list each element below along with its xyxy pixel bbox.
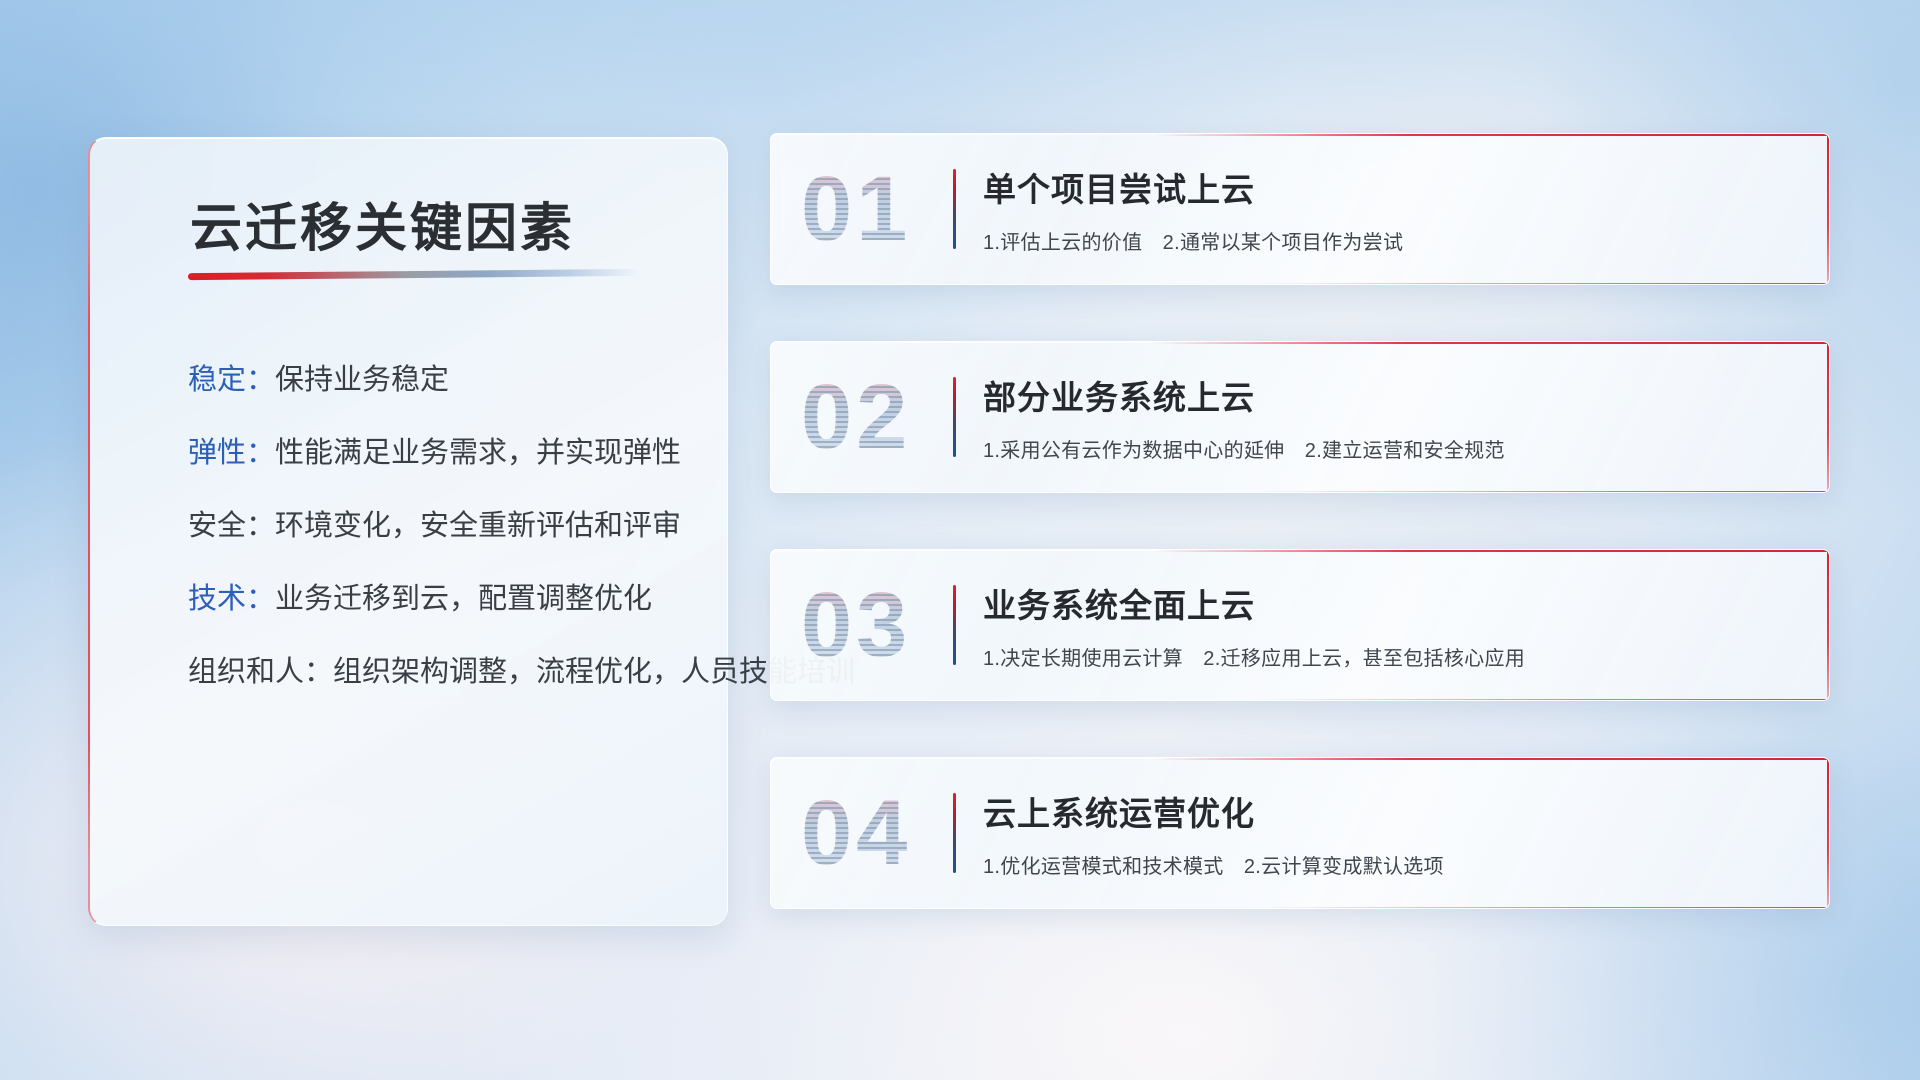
key-factor-label: 安全： [188, 510, 275, 542]
step-divider-bar [953, 793, 956, 873]
card-top-accent-line [1152, 134, 1829, 136]
card-right-accent-line [1827, 342, 1829, 492]
step-description: 1.采用公有云作为数据中心的延伸 2.建立运营和安全规范 [983, 434, 1505, 463]
step-card[interactable]: 01单个项目尝试上云1.评估上云的价值 2.通常以某个项目作为尝试 [770, 133, 1830, 285]
step-title: 云上系统运营优化 [983, 787, 1444, 835]
step-content: 云上系统运营优化1.优化运营模式和技术模式 2.云计算变成默认选项 [983, 787, 1444, 879]
step-card[interactable]: 03业务系统全面上云1.决定长期使用云计算 2.迁移应用上云，甚至包括核心应用 [770, 549, 1830, 701]
card-top-accent-line [1152, 550, 1829, 552]
cloud-migration-steps: 01单个项目尝试上云1.评估上云的价值 2.通常以某个项目作为尝试02部分业务系… [770, 133, 1830, 965]
key-factor-item: 技术：业务迁移到云，配置调整优化 [188, 585, 688, 614]
step-number-watermark: 03 [801, 579, 911, 671]
key-factor-value: 保持业务稳定 [275, 364, 449, 396]
step-card[interactable]: 02部分业务系统上云1.采用公有云作为数据中心的延伸 2.建立运营和安全规范 [770, 341, 1830, 493]
step-description: 1.评估上云的价值 2.通常以某个项目作为尝试 [983, 226, 1403, 255]
key-factor-item: 组织和人：组织架构调整，流程优化，人员技能培训 [188, 658, 688, 687]
key-factor-value: 业务迁移到云，配置调整优化 [275, 583, 652, 615]
key-factor-label: 组织和人： [188, 656, 333, 688]
card-top-accent-line [1152, 758, 1829, 760]
title-underline-rule [188, 269, 640, 280]
key-factor-label: 技术： [188, 583, 275, 615]
step-description: 1.优化运营模式和技术模式 2.云计算变成默认选项 [983, 850, 1444, 879]
key-factor-item: 弹性：性能满足业务需求，并实现弹性 [188, 439, 688, 468]
key-factor-value: 性能满足业务需求，并实现弹性 [275, 437, 681, 469]
step-divider-bar [953, 377, 956, 457]
card-right-accent-line [1827, 134, 1829, 284]
page-title: 云迁移关键因素 [190, 186, 575, 261]
key-factor-label: 稳定： [188, 364, 275, 396]
key-factor-item: 稳定：保持业务稳定 [188, 366, 688, 395]
key-factor-item: 安全：环境变化，安全重新评估和评审 [188, 512, 688, 541]
step-divider-bar [953, 585, 956, 665]
step-number-watermark: 01 [801, 163, 911, 255]
card-right-accent-line [1827, 550, 1829, 700]
step-divider-bar [953, 169, 956, 249]
key-factor-value: 环境变化，安全重新评估和评审 [275, 510, 681, 542]
card-bottom-accent-line [1258, 283, 1829, 284]
step-content: 部分业务系统上云1.采用公有云作为数据中心的延伸 2.建立运营和安全规范 [983, 371, 1505, 463]
card-bottom-accent-line [1258, 907, 1829, 908]
step-title: 业务系统全面上云 [983, 579, 1525, 627]
step-title: 单个项目尝试上云 [983, 163, 1403, 211]
card-top-accent-line [1152, 342, 1829, 344]
step-content: 业务系统全面上云1.决定长期使用云计算 2.迁移应用上云，甚至包括核心应用 [983, 579, 1525, 671]
step-title: 部分业务系统上云 [983, 371, 1505, 419]
step-number-watermark: 04 [801, 787, 911, 879]
card-bottom-accent-line [1258, 699, 1829, 700]
step-number-watermark: 02 [801, 371, 911, 463]
key-factor-label: 弹性： [188, 437, 275, 469]
step-card[interactable]: 04云上系统运营优化1.优化运营模式和技术模式 2.云计算变成默认选项 [770, 757, 1830, 909]
key-factors-panel: 云迁移关键因素 稳定：保持业务稳定弹性：性能满足业务需求，并实现弹性安全：环境变… [88, 137, 728, 926]
card-bottom-accent-line [1258, 491, 1829, 492]
card-right-accent-line [1827, 758, 1829, 908]
step-description: 1.决定长期使用云计算 2.迁移应用上云，甚至包括核心应用 [983, 642, 1525, 671]
step-content: 单个项目尝试上云1.评估上云的价值 2.通常以某个项目作为尝试 [983, 163, 1403, 255]
key-factors-list: 稳定：保持业务稳定弹性：性能满足业务需求，并实现弹性安全：环境变化，安全重新评估… [188, 366, 688, 731]
